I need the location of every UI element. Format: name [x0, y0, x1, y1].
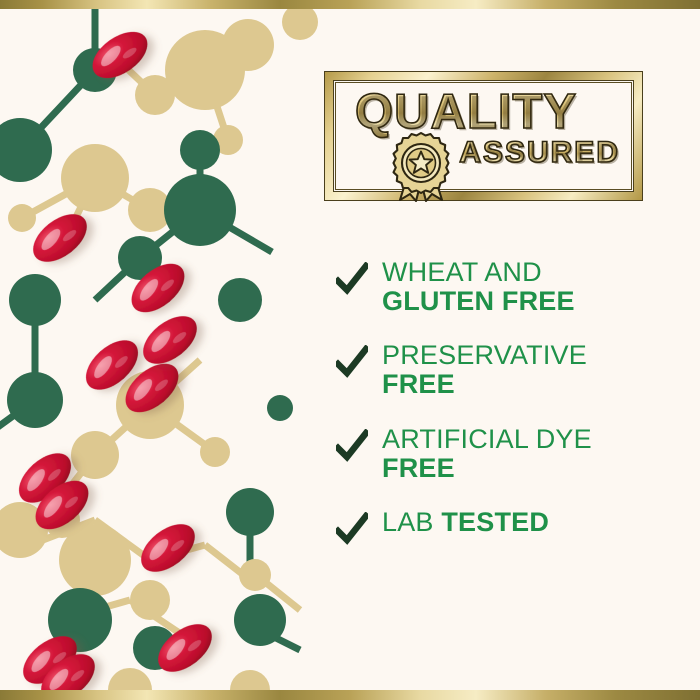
badge-subtitle-assured: ASSURED — [459, 136, 620, 170]
molecule-node — [234, 594, 286, 646]
molecule-node — [135, 75, 175, 115]
feature-checklist: WHEAT ANDGLUTEN FREEPRESERVATIVEFREEARTI… — [336, 258, 676, 548]
feature-label-line2: FREE — [382, 454, 592, 483]
feature-label: PRESERVATIVEFREE — [382, 341, 587, 399]
molecule-node — [226, 488, 274, 536]
molecule-node — [59, 524, 131, 596]
molecule-pattern-artwork — [0, 0, 330, 700]
molecule-node — [222, 19, 274, 71]
feature-label: LAB TESTED — [382, 508, 549, 537]
molecule-node — [218, 278, 262, 322]
feature-label-line1: WHEAT AND — [382, 258, 575, 287]
molecule-node — [282, 4, 318, 40]
molecule-node — [8, 204, 36, 232]
bottom-gold-border — [0, 690, 700, 700]
molecule-node — [71, 431, 119, 479]
feature-label-line1: PRESERVATIVE — [382, 341, 587, 370]
feature-item: PRESERVATIVEFREE — [336, 341, 676, 399]
checkmark-icon — [336, 262, 368, 298]
molecule-node — [9, 274, 61, 326]
feature-label: ARTIFICIAL DYEFREE — [382, 425, 592, 483]
molecule-node — [180, 130, 220, 170]
feature-label-line1: ARTIFICIAL DYE — [382, 425, 592, 454]
molecule-node — [7, 372, 63, 428]
quality-assured-badge: QUALITY ASSURED — [325, 72, 642, 200]
molecule-node — [267, 395, 293, 421]
feature-label-line2: GLUTEN FREE — [382, 287, 575, 316]
molecule-node — [130, 580, 170, 620]
award-rosette-icon — [388, 130, 454, 202]
molecule-node — [164, 174, 236, 246]
molecule-node — [61, 144, 129, 212]
molecule-node — [200, 437, 230, 467]
feature-item: WHEAT ANDGLUTEN FREE — [336, 258, 676, 316]
checkmark-icon — [336, 429, 368, 465]
checkmark-icon — [336, 345, 368, 381]
checkmark-icon — [336, 512, 368, 548]
feature-label: WHEAT ANDGLUTEN FREE — [382, 258, 575, 316]
top-gold-border — [0, 0, 700, 9]
feature-item: LAB TESTED — [336, 508, 676, 548]
feature-item: ARTIFICIAL DYEFREE — [336, 425, 676, 483]
molecule-node — [239, 559, 271, 591]
promo-graphic: QUALITY ASSURED WHEAT ANDGLUTEN FREEPRES… — [0, 0, 700, 700]
feature-label-line2: TESTED — [441, 507, 549, 537]
feature-label-line1: LAB — [382, 507, 441, 537]
feature-label-line2: FREE — [382, 370, 587, 399]
